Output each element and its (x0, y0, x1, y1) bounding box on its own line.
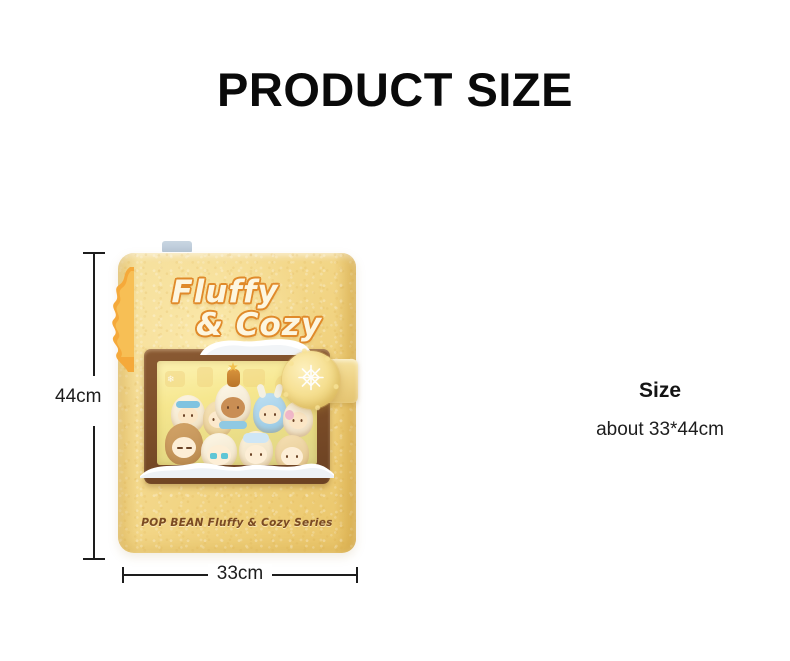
product-image: Fluffy & Cozy POP BEAN Fluffy & Cozy Ser… (118, 247, 356, 559)
snowflake-icon (296, 363, 326, 398)
bookmark-tab (162, 241, 192, 252)
scene-snowflake-icon: ❄ (167, 375, 175, 384)
size-info-block: Size about 33*44cm (560, 378, 760, 442)
height-dimension-label: 44cm (52, 385, 104, 410)
page-title: PRODUCT SIZE (0, 66, 790, 113)
width-dimension-line: 33cm (120, 566, 360, 584)
width-dimension-label: 33cm (208, 564, 272, 585)
pompom-clasp[interactable] (282, 351, 340, 409)
width-dimension-segment-right (272, 574, 356, 576)
height-dimension-segment-upper (93, 252, 95, 376)
window-snow-sill (140, 452, 334, 478)
height-dimension-segment-lower (93, 426, 95, 558)
size-heading: Size (560, 378, 760, 403)
width-dimension-cap-right (356, 567, 358, 583)
character-figure (253, 393, 287, 433)
size-value: about 33*44cm (560, 419, 760, 442)
character-figure (215, 383, 251, 425)
width-dimension-segment-left (122, 574, 208, 576)
spine-ruffle-trim (108, 267, 134, 372)
height-dimension-cap-bottom (83, 558, 105, 560)
cover-series-text: POP BEAN Fluffy & Cozy Series (134, 517, 340, 529)
edge-shading (334, 253, 356, 553)
